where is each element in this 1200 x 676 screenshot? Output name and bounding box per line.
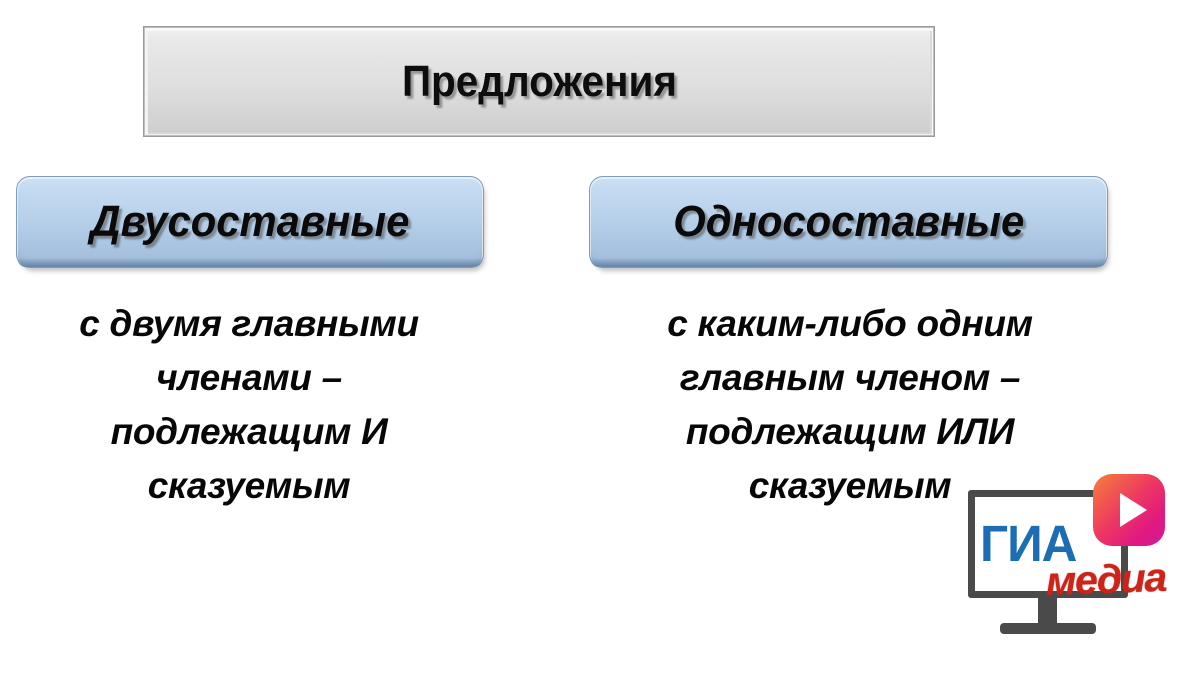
category-box-dvusostavnye[interactable]: Двусоставные [16,176,484,268]
description-line: подлежащим ИЛИ [594,405,1106,459]
description-line: сказуемым [14,459,484,513]
description-line: с двумя главными [14,297,484,351]
page-title: Предложения [401,57,676,107]
category-box-odnosostavnye[interactable]: Односоставные [589,176,1108,268]
description-line: членами – [14,351,484,405]
description-line: с каким-либо одним [594,297,1106,351]
description-line: подлежащим И [14,405,484,459]
monitor-base-icon [1000,623,1096,634]
category-label-odnosostavnye: Односоставные [673,197,1024,247]
play-triangle-icon [1120,493,1147,527]
play-button-icon [1093,474,1165,546]
title-box: Предложения [143,26,935,137]
description-line: главным членом – [594,351,1106,405]
category-label-dvusostavnye: Двусоставные [91,197,410,247]
gia-media-logo: ГИА медиа [962,468,1200,664]
logo-subbrand-text: медиа [1045,556,1166,605]
category-description-dvusostavnye: с двумя главными членами – подлежащим И … [14,297,484,513]
